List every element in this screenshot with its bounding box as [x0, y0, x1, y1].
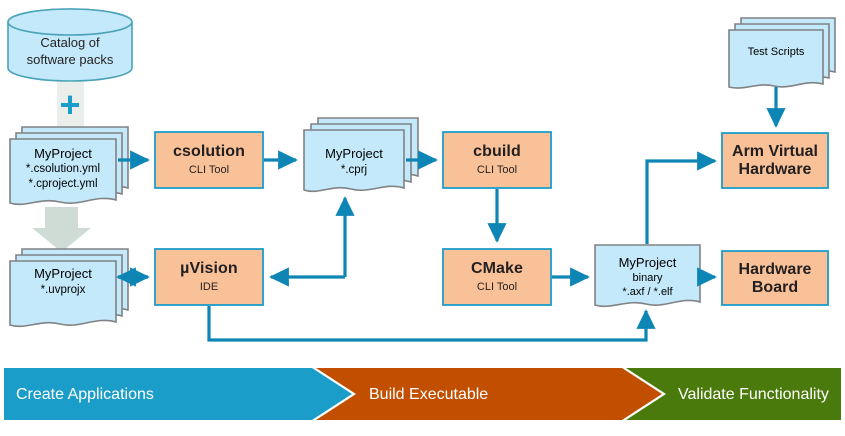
plus-backdrop: [57, 82, 84, 128]
band-label-validate[interactable]: Validate Functionality: [678, 387, 829, 403]
node-proj-uvprojx: [10, 249, 128, 326]
node-proj-yml: [10, 127, 128, 204]
node-catalog: [8, 9, 132, 81]
node-test-scripts: [729, 18, 835, 88]
edge-binary-to-avh: [647, 161, 715, 244]
arrow-yml-to-uvprojx: [32, 207, 91, 252]
node-csolution: [155, 132, 263, 188]
node-uvision: [155, 249, 263, 305]
node-cbuild: [443, 132, 551, 188]
band-segment-build: [316, 368, 662, 420]
edge-uvision-to-binary: [209, 306, 646, 340]
diagram-graphics: [0, 0, 845, 436]
node-cmake: [443, 249, 551, 305]
band-label-build[interactable]: Build Executable: [369, 387, 488, 403]
node-hardware-board: [722, 251, 828, 305]
node-proj-cprj: [304, 118, 418, 191]
node-arm-virtual-hardware: [722, 133, 828, 188]
diagram-canvas: Catalog of software packs + MyProject *.…: [0, 0, 845, 436]
node-proj-binary: [595, 245, 700, 306]
band-label-create[interactable]: Create Applications: [16, 387, 154, 403]
